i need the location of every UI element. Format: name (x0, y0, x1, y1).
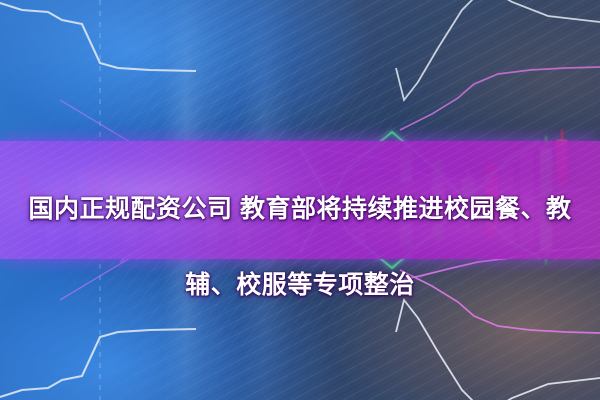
headline-text: 国内正规配资公司 教育部将持续推进校园餐、教 辅、校服等专项整治 (0, 152, 600, 342)
banner-image: 国内正规配资公司 教育部将持续推进校园餐、教 辅、校服等专项整治 (0, 0, 600, 400)
headline-line-2: 辅、校服等专项整治 (18, 266, 582, 304)
headline-line-1: 国内正规配资公司 教育部将持续推进校园餐、教 (18, 190, 582, 228)
